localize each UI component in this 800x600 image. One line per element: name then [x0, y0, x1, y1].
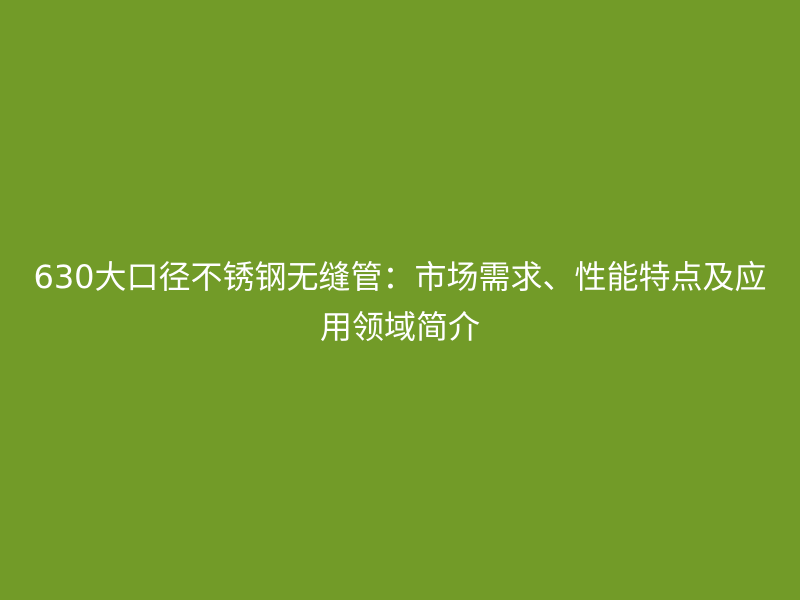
title-block: 630大口径不锈钢无缝管：市场需求、性能特点及应用领域简介 — [0, 252, 800, 352]
title-card: 630大口径不锈钢无缝管：市场需求、性能特点及应用领域简介 — [0, 0, 800, 600]
page-title: 630大口径不锈钢无缝管：市场需求、性能特点及应用领域简介 — [30, 252, 770, 352]
